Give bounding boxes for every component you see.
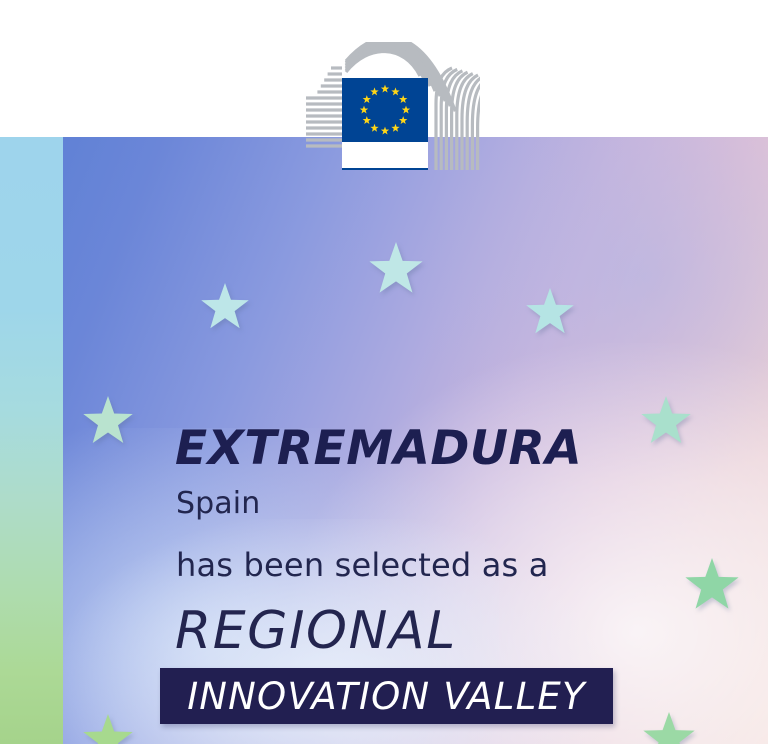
- poster-copy: EXTREMADURA Spain has been selected as a…: [0, 137, 768, 744]
- page-title-region: EXTREMADURA: [175, 425, 582, 472]
- award-label-regional: REGIONAL: [175, 605, 457, 657]
- european-commission-logo: [296, 42, 480, 170]
- subtitle-country: Spain: [176, 489, 260, 519]
- poster-canvas: EXTREMADURA Spain has been selected as a…: [0, 0, 768, 744]
- selection-statement: has been selected as a: [176, 549, 549, 581]
- award-label-innovation-valley: INNOVATION VALLEY: [160, 668, 613, 724]
- award-highlight-box: INNOVATION VALLEY: [160, 668, 613, 724]
